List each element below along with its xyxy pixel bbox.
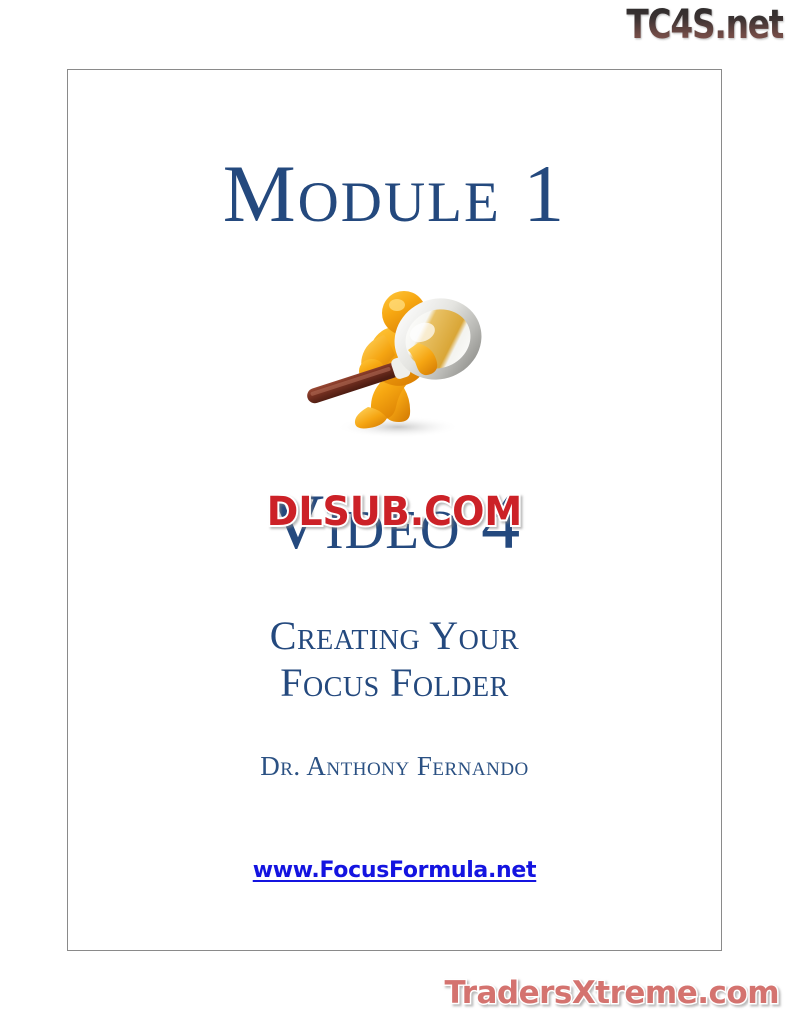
page-subtitle: Creating Your Focus Folder [68, 612, 721, 706]
author-name: Dr. Anthony Fernando [68, 750, 721, 782]
watermark-dlsub: DLSUB.COM [84, 488, 704, 536]
website-link-container: www.FocusFormula.net [68, 858, 721, 884]
watermark-tc4s: TC4S.net [626, 2, 783, 48]
page-subtitle-line-1: Creating Your [68, 612, 721, 659]
document-page: Module 1 [67, 69, 722, 951]
page-title-module: Module 1 [68, 146, 721, 242]
website-link[interactable]: www.FocusFormula.net [253, 858, 537, 883]
page-subtitle-line-2: Focus Folder [68, 659, 721, 706]
illustration-person-with-magnifying-glass [68, 275, 721, 440]
video-title-row: Video 4 DLSUB.COM [68, 470, 721, 580]
watermark-tradersxtreme: TradersXtreme.com [444, 974, 779, 1012]
